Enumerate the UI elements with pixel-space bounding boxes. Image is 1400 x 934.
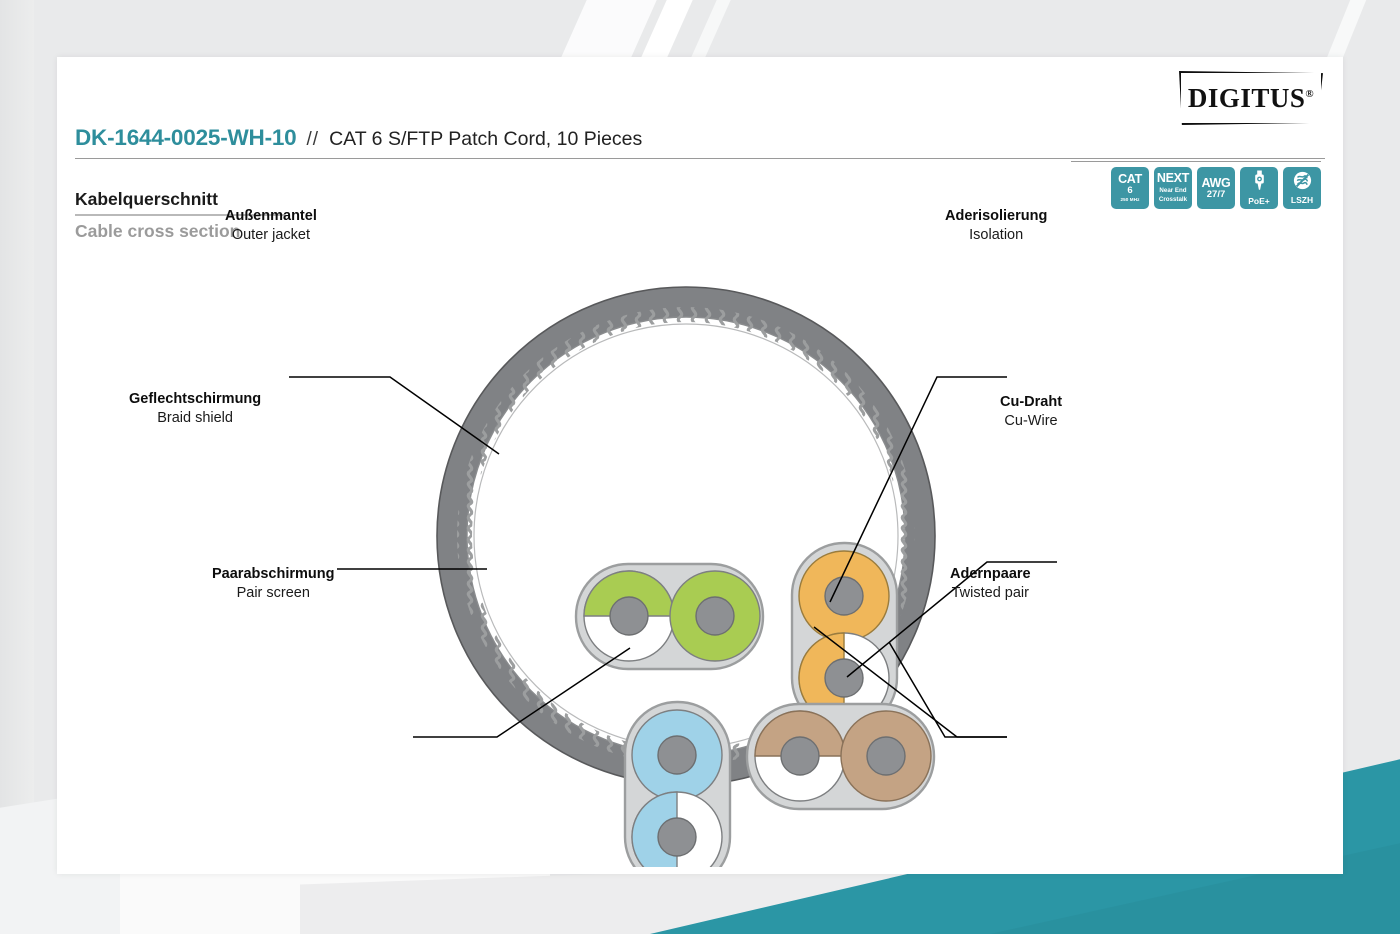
- green-pair: [576, 564, 763, 669]
- digitus-logo: DIGITUS®: [1179, 71, 1319, 121]
- product-description: CAT 6 S/FTP Patch Cord, 10 Pieces: [329, 128, 642, 151]
- cat-badge-sub: 6: [1127, 186, 1132, 196]
- annotation-isolation-de: Aderisolierung: [945, 207, 1047, 226]
- annotation-cu-wire-de: Cu-Draht: [1000, 393, 1062, 412]
- left-edge-gradient: [0, 0, 34, 934]
- product-sku: DK-1644-0025-WH-10: [75, 125, 297, 151]
- cat-badge: CAT 6 250 MHz: [1111, 167, 1149, 209]
- annotation-twisted-pair-en: Twisted pair: [950, 584, 1031, 603]
- annotation-pair-screen-de: Paarabschirmung: [212, 565, 335, 584]
- annotation-braid-shield-en: Braid shield: [129, 409, 261, 428]
- poe-badge: PoE+: [1240, 167, 1278, 209]
- annotation-outer-jacket-de: Außenmantel: [225, 207, 317, 226]
- title-separator: //: [307, 129, 320, 151]
- annotation-isolation-en: Isolation: [945, 226, 1047, 245]
- awg-badge-sub: 27/7: [1207, 190, 1226, 200]
- annotation-cu-wire-en: Cu-Wire: [1000, 412, 1062, 431]
- title-divider: [75, 158, 1325, 159]
- certification-badges: CAT 6 250 MHz NEXT Near End Crosstalk AW…: [1111, 167, 1321, 209]
- lszh-badge: LSZH: [1283, 167, 1321, 209]
- cable-cross-section-diagram: [57, 207, 1343, 867]
- next-badge-line2: Crosstalk: [1159, 196, 1187, 204]
- product-title-row: DK-1644-0025-WH-10 // CAT 6 S/FTP Patch …: [75, 125, 1325, 151]
- registered-mark-icon: ®: [1305, 88, 1314, 100]
- logo-outline: DIGITUS®: [1179, 71, 1323, 125]
- page-root: DIGITUS® DK-1644-0025-WH-10 // CAT 6 S/F…: [0, 0, 1400, 934]
- logo-wordmark: DIGITUS®: [1188, 83, 1314, 114]
- awg-badge-main: AWG: [1202, 177, 1231, 190]
- annotation-twisted-pair-de: Adernpaare: [950, 565, 1031, 584]
- annotation-pair-screen-en: Pair screen: [212, 584, 335, 603]
- badge-divider: [1071, 161, 1321, 162]
- logo-text: DIGITUS: [1188, 83, 1306, 113]
- annotation-isolation: Aderisolierung Isolation: [945, 207, 1047, 244]
- annotation-outer-jacket-en: Outer jacket: [225, 226, 317, 245]
- annotation-pair-screen: Paarabschirmung Pair screen: [212, 565, 335, 602]
- annotation-braid-shield: Geflechtschirmung Braid shield: [129, 390, 261, 427]
- brown-pair: [747, 704, 934, 809]
- content-card: DIGITUS® DK-1644-0025-WH-10 // CAT 6 S/F…: [57, 57, 1343, 874]
- annotation-outer-jacket: Außenmantel Outer jacket: [225, 207, 317, 244]
- annotation-cu-wire: Cu-Draht Cu-Wire: [1000, 393, 1062, 430]
- next-badge: NEXT Near End Crosstalk: [1154, 167, 1192, 209]
- next-badge-line1: Near End: [1159, 187, 1186, 195]
- annotation-twisted-pair: Adernpaare Twisted pair: [950, 565, 1031, 602]
- next-badge-main: NEXT: [1157, 172, 1189, 185]
- poe-plug-icon: [1253, 170, 1266, 195]
- lszh-badge-caption: LSZH: [1291, 196, 1313, 205]
- poe-badge-caption: PoE+: [1248, 197, 1270, 206]
- annotation-braid-shield-de: Geflechtschirmung: [129, 390, 261, 409]
- no-smoke-icon: [1293, 171, 1312, 194]
- cat-badge-main: CAT: [1118, 173, 1142, 186]
- cat-badge-frequency: 250 MHz: [1120, 198, 1139, 203]
- awg-badge: AWG 27/7: [1197, 167, 1235, 209]
- blue-pair: [625, 702, 730, 867]
